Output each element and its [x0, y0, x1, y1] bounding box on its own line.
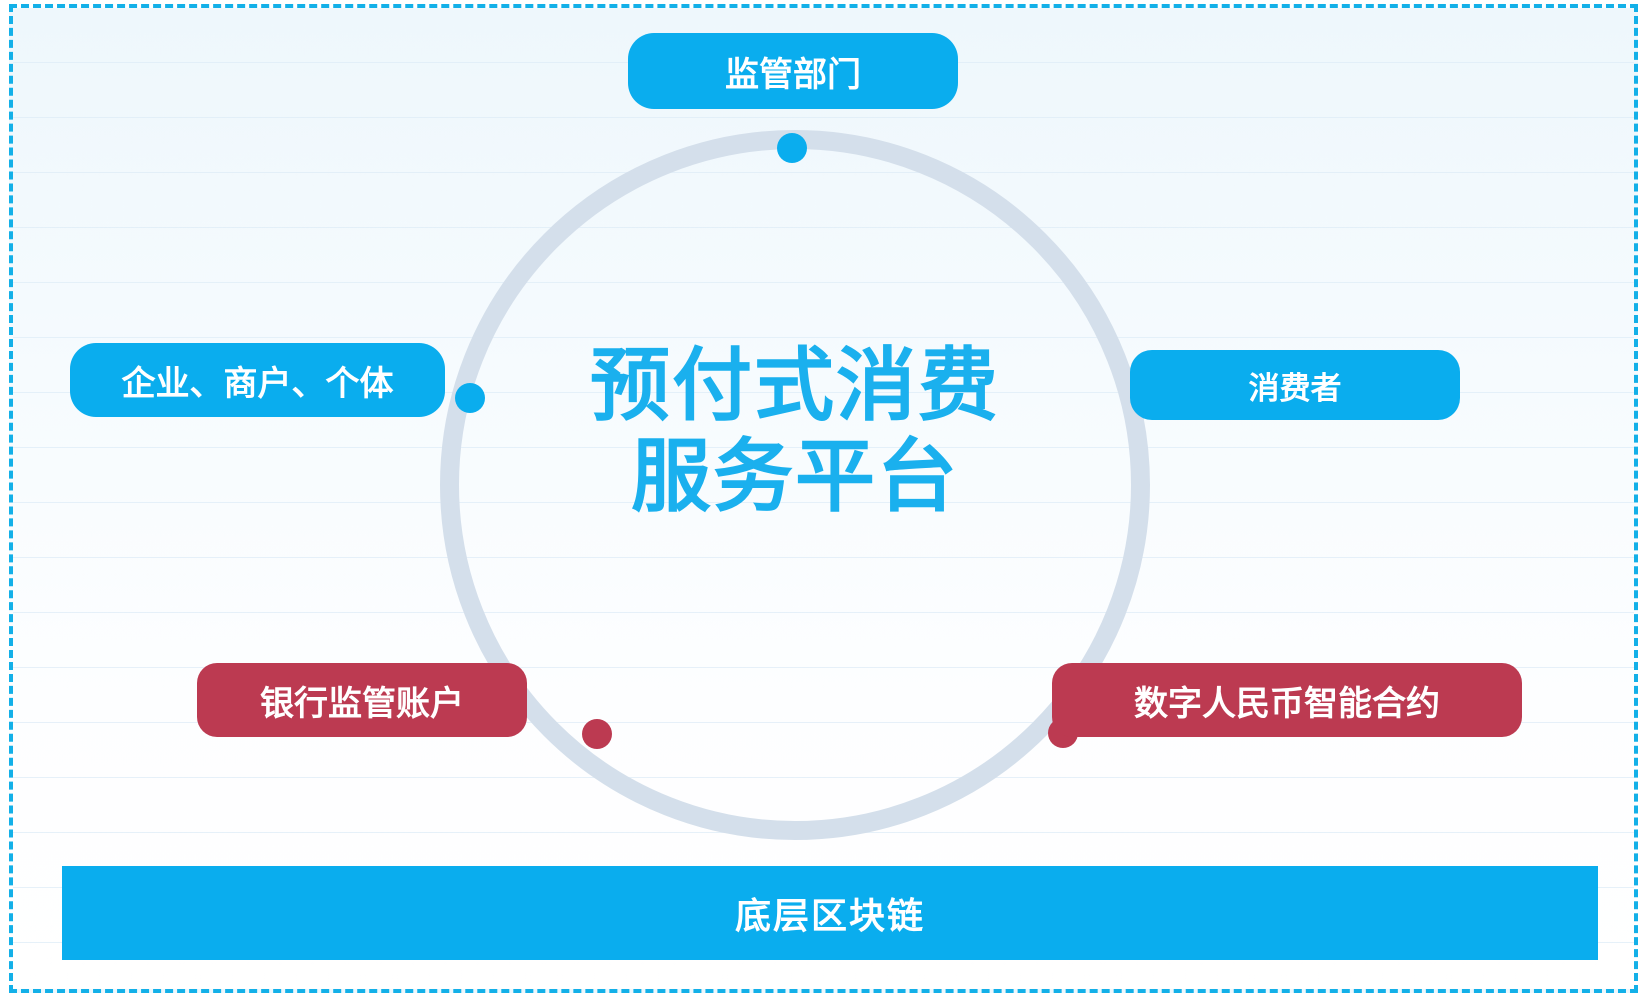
node-dot-bank-account	[582, 719, 612, 749]
node-pill-bank-account[interactable]: 银行监管账户	[197, 663, 527, 737]
node-dot-merchants	[455, 383, 485, 413]
center-label-line-1: 预付式消费	[540, 340, 1050, 431]
node-pill-merchants-label: 企业、商户、个体	[122, 356, 394, 405]
center-platform-label: 预付式消费 服务平台	[540, 340, 1050, 522]
node-pill-regulator-label: 监管部门	[725, 47, 861, 96]
base-layer-label: 底层区块链	[735, 887, 925, 939]
base-layer-bar[interactable]: 底层区块链	[62, 866, 1598, 960]
node-pill-bank-account-label: 银行监管账户	[260, 676, 464, 725]
node-pill-consumers[interactable]: 消费者	[1130, 350, 1460, 420]
center-label-line-2: 服务平台	[540, 431, 1050, 522]
node-pill-smart-contract[interactable]: 数字人民币智能合约	[1052, 663, 1522, 737]
diagram-canvas: 预付式消费 服务平台 监管部门 企业、商户、个体 消费者 银行监管账户 数字人民…	[0, 0, 1646, 1000]
node-pill-smart-contract-label: 数字人民币智能合约	[1134, 676, 1440, 725]
node-dot-regulator	[777, 133, 807, 163]
node-pill-consumers-label: 消费者	[1249, 363, 1342, 408]
node-pill-merchants[interactable]: 企业、商户、个体	[70, 343, 445, 417]
node-pill-regulator[interactable]: 监管部门	[628, 33, 958, 109]
